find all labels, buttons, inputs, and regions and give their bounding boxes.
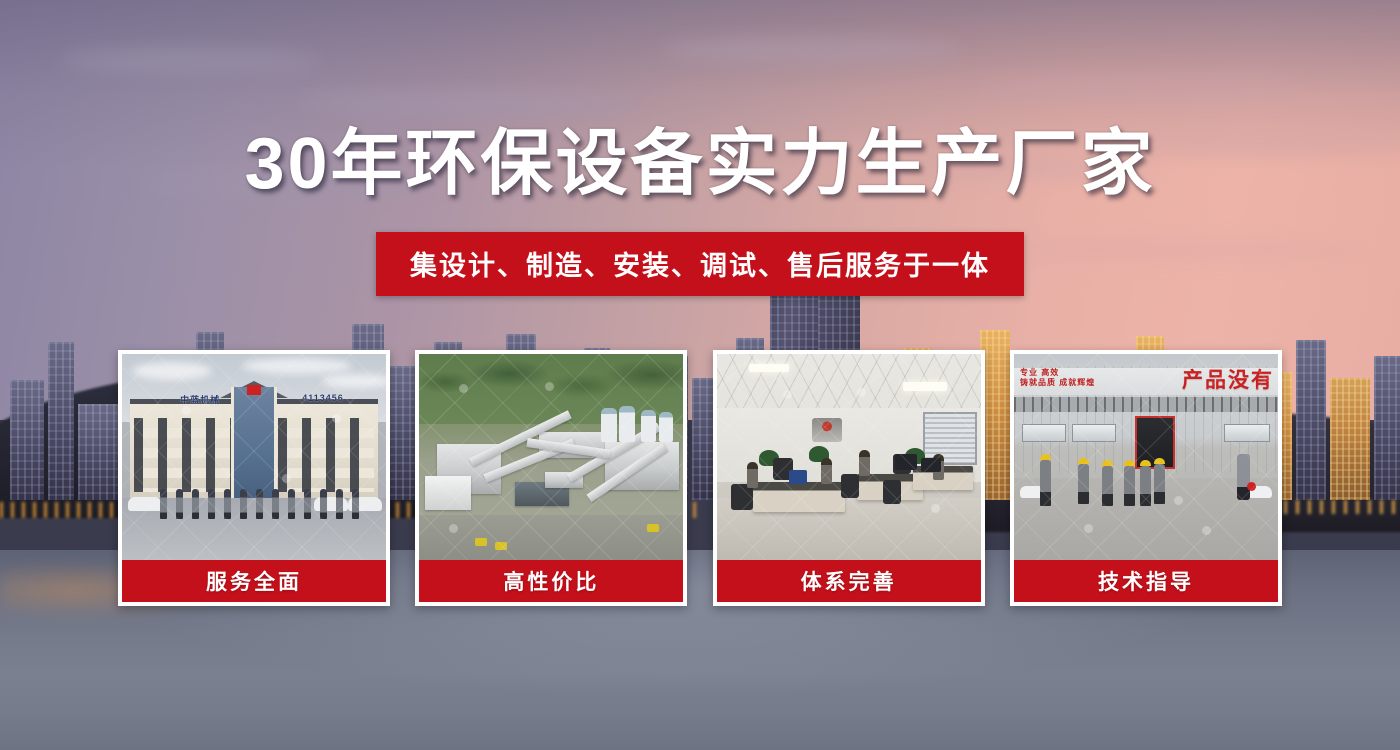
photo-desk	[753, 482, 845, 512]
photo-silo	[641, 410, 656, 442]
cloud-shape	[660, 38, 960, 62]
card-label-guidance: 技术指导	[1014, 560, 1278, 602]
photo-staff	[821, 458, 832, 484]
photo-banner-text-small: 专业 高效 铸就品质 成就辉煌	[1020, 368, 1095, 388]
photo-staff	[176, 489, 183, 519]
photo-supervisor	[1237, 454, 1250, 500]
photo-excavator	[647, 524, 659, 532]
photo-banner-small-3: 铸就品质	[1020, 378, 1056, 387]
photo-excavator	[495, 542, 507, 550]
photo-banner-text-large: 产品没有	[1182, 364, 1274, 394]
card-photo-office-interior	[717, 354, 981, 560]
photo-staff	[208, 489, 215, 519]
building	[1374, 356, 1400, 500]
photo-silo	[659, 412, 673, 442]
photo-flag	[247, 385, 261, 395]
photo-phone-number: 4113456	[302, 393, 344, 403]
cloud-shape	[300, 92, 640, 114]
cloud-shape	[60, 48, 320, 74]
photo-cloud	[132, 362, 212, 380]
cloud-shape	[980, 76, 1300, 98]
photo-monitor	[921, 458, 941, 472]
photo-ceiling-light	[903, 382, 947, 391]
card-label-value: 高性价比	[419, 560, 683, 602]
photo-watermark-dot	[282, 474, 291, 483]
building	[1330, 378, 1370, 500]
photo-company-sign: 中蓝机械	[180, 393, 220, 406]
photo-scene: 产品没有 专业 高效 铸就品质 成就辉煌	[1014, 354, 1278, 560]
page-title: 30年环保设备实力生产厂家	[0, 128, 1400, 200]
subtitle-banner: 集设计、制造、安装、调试、售后服务于一体	[376, 232, 1024, 296]
building	[10, 380, 44, 500]
photo-banner-small-2: 高效	[1041, 368, 1059, 377]
photo-staff	[160, 489, 167, 519]
photo-staff	[224, 489, 231, 519]
photo-watermark-dot	[783, 390, 792, 399]
photo-chair	[841, 474, 859, 498]
photo-red-helmet	[1247, 482, 1256, 491]
photo-watermark-dot	[1202, 526, 1211, 535]
photo-cloud	[242, 358, 352, 374]
photo-factory-window	[1072, 424, 1116, 442]
photo-wall-decoration	[812, 418, 842, 442]
building	[1296, 340, 1326, 500]
building	[48, 342, 74, 500]
photo-silo	[619, 406, 635, 442]
card-photo-factory-workers: 产品没有 专业 高效 铸就品质 成就辉煌	[1014, 354, 1278, 560]
photo-building-glass-atrium	[231, 387, 277, 502]
photo-staff	[747, 462, 758, 488]
feature-card-value[interactable]: 高性价比	[415, 350, 687, 606]
banner-stage: 30年环保设备实力生产厂家 集设计、制造、安装、调试、售后服务于一体 中蓝机	[0, 0, 1400, 750]
feature-card-guidance[interactable]: 产品没有 专业 高效 铸就品质 成就辉煌	[1010, 350, 1282, 606]
photo-plant-building	[425, 476, 471, 510]
photo-factory-vent-strip	[1014, 397, 1278, 411]
photo-monitor	[895, 454, 917, 470]
photo-staff	[352, 489, 359, 519]
photo-staff	[240, 489, 247, 519]
photo-worker	[1102, 466, 1113, 506]
feature-card-row: 中蓝机械 4113456	[118, 350, 1282, 606]
photo-cloud	[322, 374, 386, 388]
photo-banner-small-4: 成就辉煌	[1059, 378, 1095, 387]
photo-watermark-dot	[1084, 524, 1093, 533]
card-label-system: 体系完善	[717, 560, 981, 602]
photo-watermark-dot	[332, 414, 341, 423]
photo-scene	[717, 354, 981, 560]
photo-yard	[419, 515, 683, 560]
photo-car	[128, 497, 162, 511]
photo-watermark-dot	[182, 406, 191, 415]
photo-worker	[1040, 460, 1051, 506]
feature-card-system[interactable]: 体系完善	[713, 350, 985, 606]
photo-scene: 中蓝机械 4113456	[122, 354, 386, 560]
photo-ceiling-light	[749, 364, 789, 372]
photo-watermark-dot	[857, 388, 866, 397]
photo-staff	[336, 489, 343, 519]
photo-watermark-dot	[1174, 496, 1183, 505]
photo-staff	[304, 489, 311, 519]
photo-worker	[1124, 466, 1135, 506]
photo-staff	[256, 489, 263, 519]
card-label-service: 服务全面	[122, 560, 386, 602]
feature-card-service[interactable]: 中蓝机械 4113456	[118, 350, 390, 606]
photo-factory-window	[1022, 424, 1066, 442]
photo-ceiling	[717, 354, 981, 408]
photo-staff	[272, 489, 279, 519]
photo-factory-window	[1224, 424, 1270, 442]
photo-banner-small-1: 专业	[1020, 368, 1038, 377]
photo-worker	[1154, 464, 1165, 504]
photo-watermark-dot	[931, 504, 940, 513]
photo-silo	[601, 408, 617, 442]
photo-excavator	[475, 538, 487, 546]
photo-staff	[320, 489, 327, 519]
building	[78, 404, 118, 500]
card-photo-industrial-plant	[419, 354, 683, 560]
photo-chair	[883, 480, 901, 504]
photo-scene	[419, 354, 683, 560]
photo-worker	[1078, 464, 1089, 504]
photo-worker	[1140, 466, 1151, 506]
card-photo-office-building: 中蓝机械 4113456	[122, 354, 386, 560]
photo-staff	[288, 489, 295, 519]
photo-monitor	[789, 470, 807, 484]
photo-staff	[192, 489, 199, 519]
photo-staff	[859, 450, 870, 476]
